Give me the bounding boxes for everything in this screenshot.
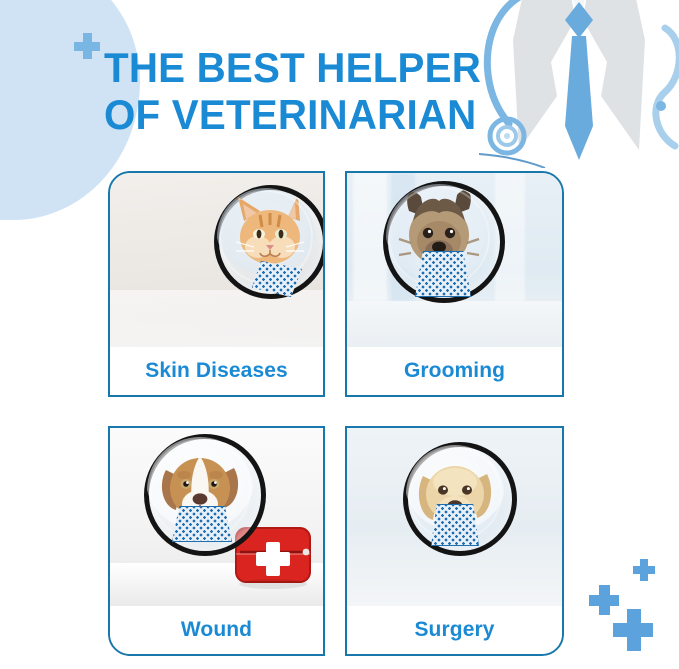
card-photo-grooming bbox=[347, 173, 562, 351]
card-photo-wound bbox=[110, 428, 323, 610]
card-label-skin-diseases: Skin Diseases bbox=[110, 347, 323, 395]
card-photo-skin-diseases bbox=[110, 173, 323, 351]
cone-bib-pattern bbox=[415, 251, 471, 297]
feature-card-grid: Skin Diseases bbox=[0, 0, 679, 669]
feature-card-grooming[interactable]: Grooming bbox=[345, 171, 564, 397]
card-label-wound: Wound bbox=[110, 606, 323, 654]
card-label-grooming: Grooming bbox=[347, 347, 562, 395]
scene-dog-with-first-aid-kit bbox=[110, 428, 323, 610]
feature-card-skin-diseases[interactable]: Skin Diseases bbox=[108, 171, 325, 397]
scene-cat-scratching bbox=[110, 173, 323, 351]
cone-bib-pattern bbox=[172, 506, 232, 542]
cone-bib-pattern bbox=[431, 504, 479, 546]
feature-card-surgery[interactable]: Surgery bbox=[345, 426, 564, 656]
scene-puppy-surgery-exam bbox=[347, 428, 562, 610]
feature-card-wound[interactable]: Wound bbox=[108, 426, 325, 656]
scene-dog-grooming bbox=[347, 173, 562, 351]
card-photo-surgery bbox=[347, 428, 562, 610]
card-label-surgery: Surgery bbox=[347, 606, 562, 654]
